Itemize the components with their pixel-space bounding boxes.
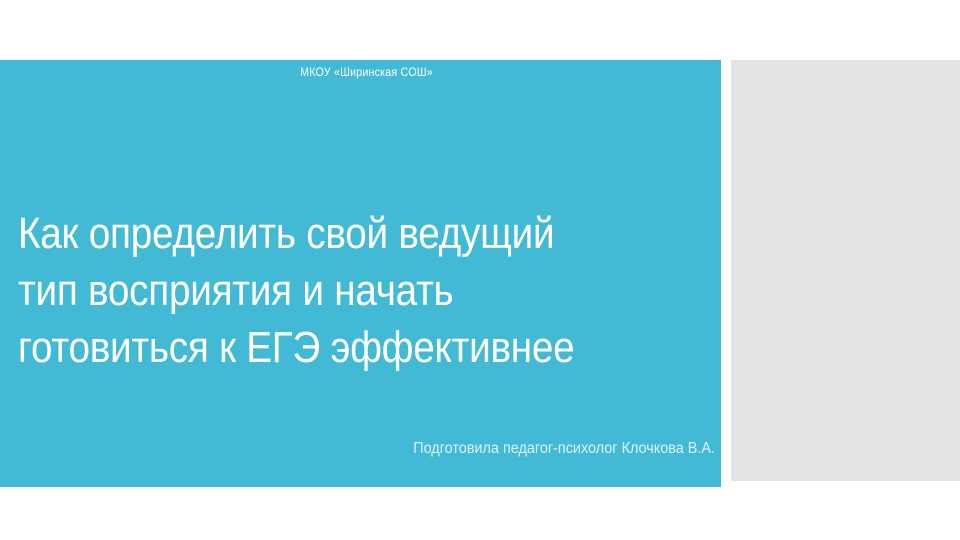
title-line-2: тип восприятия и начать	[18, 262, 625, 319]
title-line-3: готовиться к ЕГЭ эффективнее	[18, 319, 625, 376]
title-line-1: Как определить свой ведущий	[18, 205, 625, 262]
organization-name: МКОУ «Ширинская СОШ»	[26, 66, 708, 81]
presentation-slide: МКОУ «Ширинская СОШ» Как определить свой…	[0, 0, 960, 540]
decorative-side-panel	[731, 60, 960, 481]
slide-title: Как определить свой ведущий тип восприят…	[18, 205, 708, 376]
author-credit: Подготовила педагог-психолог Клочкова В.…	[50, 439, 715, 459]
